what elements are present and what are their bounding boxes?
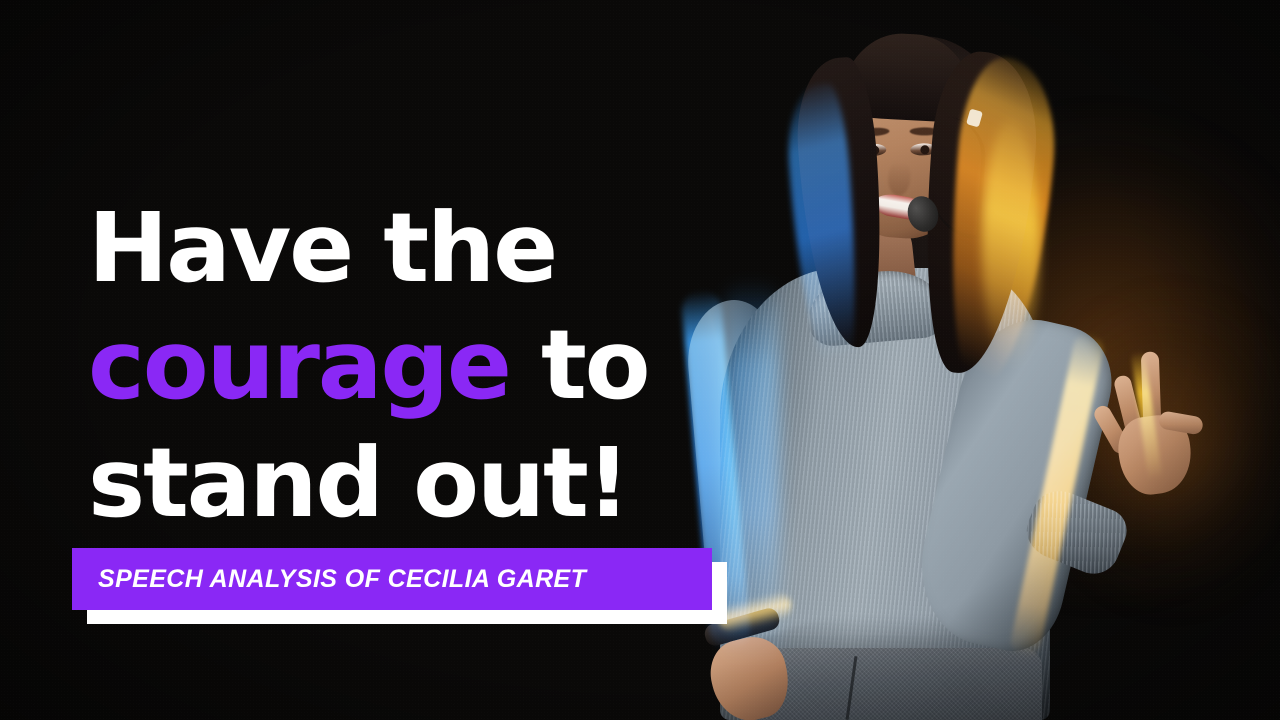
banner-fill: SPEECH ANALYSIS OF CECILIA GARET [72, 548, 712, 610]
right-hand-gesture [1088, 351, 1216, 515]
headline-line-1: Have the [88, 190, 788, 307]
headline-line-2: courage to [88, 307, 788, 424]
headline-line-3: stand out! [88, 425, 788, 542]
page-title: Have the courage to stand out! [88, 190, 788, 541]
warm-rim-light-hair-core [982, 120, 1040, 370]
headline-accent-word: courage [88, 309, 510, 421]
pupil-right [920, 145, 929, 154]
banner-label: SPEECH ANALYSIS OF CECILIA GARET [72, 565, 586, 594]
thumbnail-canvas: Have the courage to stand out! SPEECH AN… [0, 0, 1280, 720]
subtitle-banner: SPEECH ANALYSIS OF CECILIA GARET [72, 548, 712, 610]
nose [887, 161, 911, 196]
headline-line-2-rest: to [510, 309, 649, 421]
